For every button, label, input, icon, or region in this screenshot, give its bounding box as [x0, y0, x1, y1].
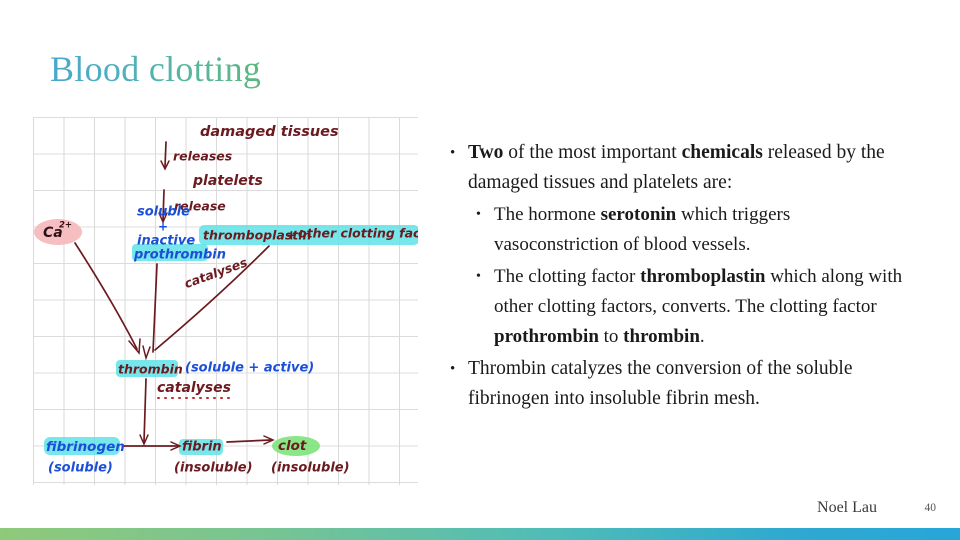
arrow-calcium-to-thrombin: [75, 243, 137, 349]
bullet-item-primary-1: Two of the most important chemicals rele…: [448, 138, 910, 198]
label-clot: clot: [278, 438, 307, 454]
footer-author-name: Noel Lau: [817, 499, 877, 517]
label-fibrinogen: fibrinogen: [46, 439, 125, 455]
page-title: Blood clotting: [50, 48, 261, 90]
label-fibrinogen-note: (soluble): [48, 461, 113, 476]
bullet1-emphasis-chemicals: chemicals: [682, 142, 763, 163]
sub2-emphasis-thromboplastin: thromboplastin: [640, 266, 765, 287]
footer-page-number: 40: [925, 502, 937, 514]
arrowhead-3: [129, 339, 140, 353]
bullet1-emphasis-two: Two: [468, 142, 503, 163]
label-prothrombin: prothrombin: [133, 248, 226, 263]
diagram-canvas: damaged tissues releases platelets relea…: [33, 117, 418, 485]
label-inactive: inactive: [137, 234, 195, 249]
sub1-text-1: The hormone: [494, 204, 601, 225]
label-thrombin-note: (soluble + active): [185, 361, 314, 376]
label-fibrin: fibrin: [182, 440, 222, 455]
bullet-item-sub-1: The hormone serotonin which triggers vas…: [474, 200, 910, 260]
label-clot-note: (insoluble): [271, 461, 350, 476]
sub2-text-1: The clotting factor: [494, 266, 640, 287]
label-catalyses-lower: catalyses: [157, 380, 231, 396]
label-other-clotting-factors: other clotting factors: [298, 226, 418, 241]
slide-body-text: Two of the most important chemicals rele…: [448, 138, 910, 416]
label-calcium-charge: 2+: [59, 221, 72, 231]
clotting-cascade-diagram: damaged tissues releases platelets relea…: [33, 117, 418, 485]
bottom-accent-bar: [0, 528, 960, 540]
arrowhead-5: [143, 346, 150, 358]
label-thrombin: thrombin: [118, 362, 183, 377]
label-damaged-tissues: damaged tissues: [200, 124, 339, 140]
label-soluble: soluble: [137, 205, 190, 220]
arrow-fibrin-to-clot: [227, 440, 271, 442]
sub1-emphasis-serotonin: serotonin: [601, 204, 677, 225]
label-releases: releases: [173, 149, 232, 164]
arrow-thrombin-down: [144, 379, 146, 442]
bullet-item-primary-2: Thrombin catalyzes the conversion of the…: [448, 354, 910, 414]
arrow-prothrombin-to-thrombin: [153, 264, 157, 352]
arrow-tissues-to-platelets: [165, 142, 166, 167]
label-soluble-plus: +: [158, 220, 168, 234]
bullet1-text-2: of the most important: [503, 142, 681, 163]
sub2-text-5: to: [599, 326, 623, 347]
bullet-item-sub-2: The clotting factor thromboplastin which…: [474, 262, 910, 352]
label-platelets: platelets: [192, 173, 263, 189]
sub-bullet-list: The hormone serotonin which triggers vas…: [474, 200, 910, 352]
label-fibrin-note: (insoluble): [174, 461, 253, 476]
sub2-text-7: .: [700, 326, 705, 347]
sub2-emphasis-thrombin: thrombin: [623, 326, 700, 347]
label-plus-sign: +: [286, 229, 297, 244]
sub2-emphasis-prothrombin: prothrombin: [494, 326, 599, 347]
